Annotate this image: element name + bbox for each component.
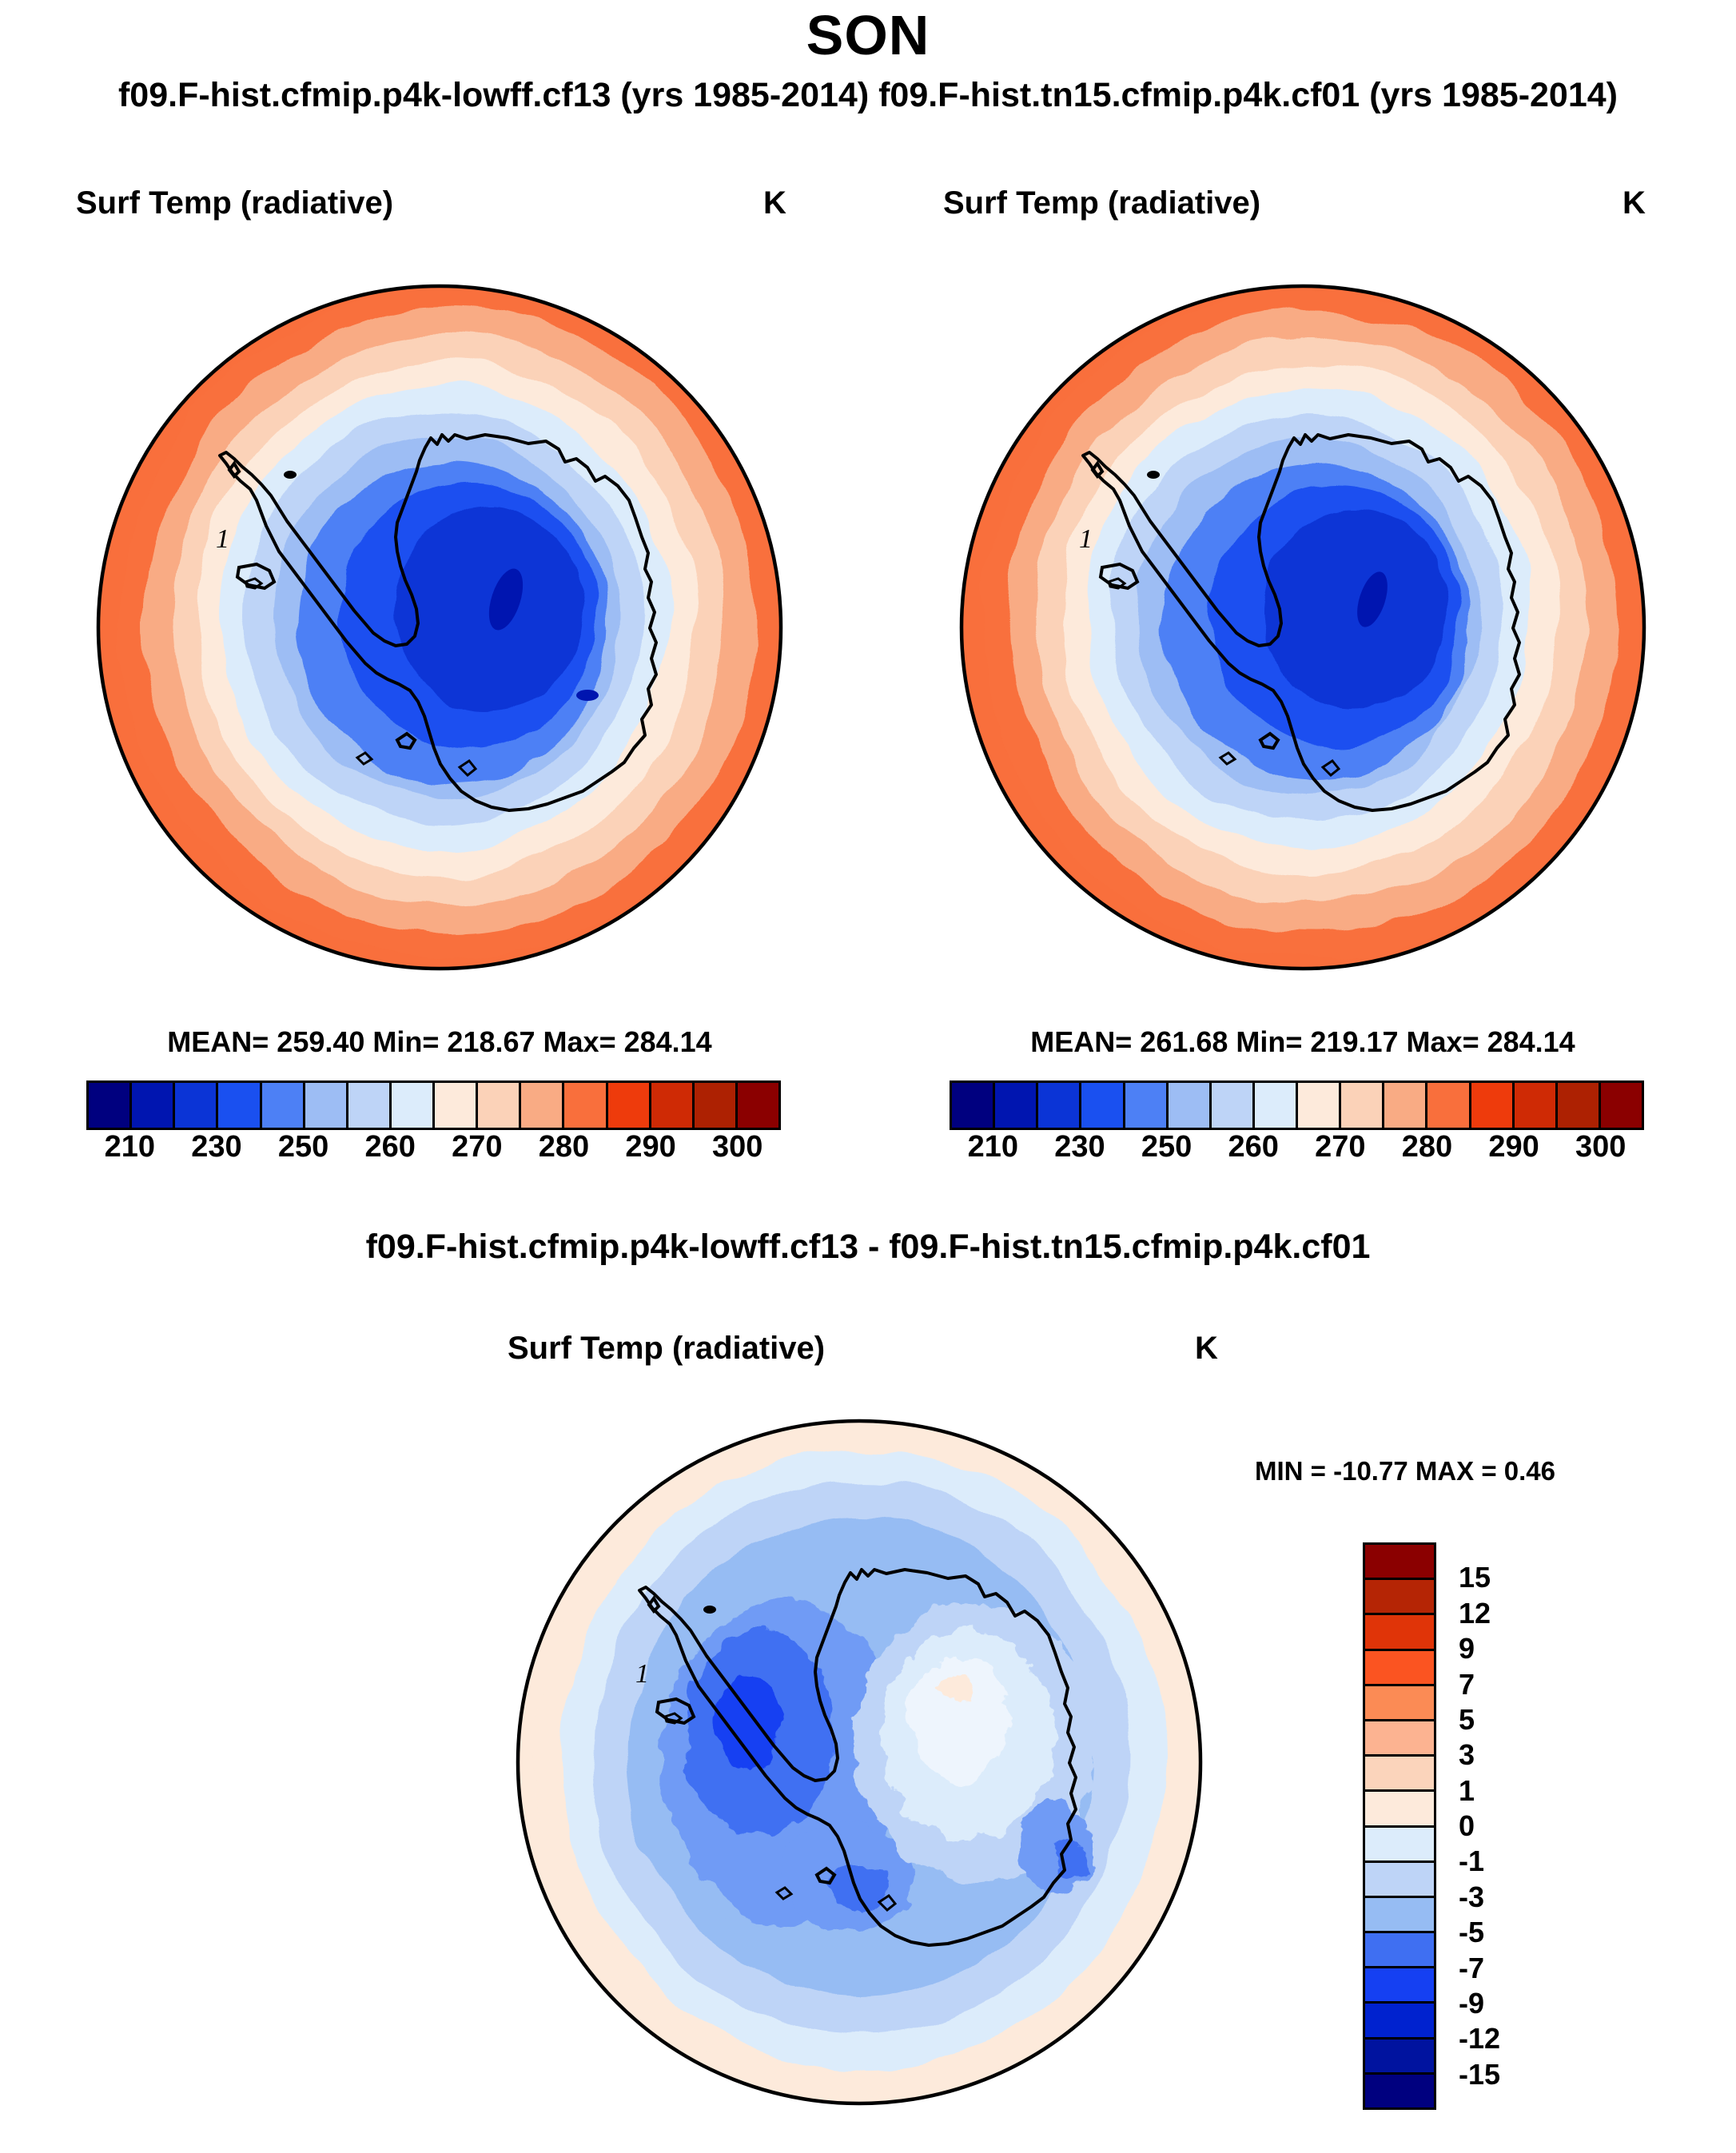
diff-panel-units-label: K [1195, 1331, 1218, 1367]
right-panel-stats: MEAN= 261.68 Min= 219.17 Max= 284.14 [939, 1025, 1666, 1059]
right-colorbar: 210 230 250 260 270 280 290 300 [950, 1080, 1644, 1175]
tick-label: 230 [191, 1130, 241, 1164]
tick-label: 230 [1054, 1130, 1105, 1164]
right-colorbar-strip [950, 1080, 1644, 1130]
case-description-line: f09.F-hist.cfmip.p4k-lowff.cf13 (yrs 198… [0, 76, 1736, 115]
tick-label: 250 [278, 1130, 328, 1164]
tick-label: 7 [1459, 1668, 1475, 1701]
svg-text:1: 1 [1079, 524, 1093, 554]
difference-colorbar-strip [1363, 1542, 1436, 2110]
difference-polar-map: 1 [496, 1399, 1223, 2126]
tick-label: -7 [1459, 1952, 1484, 1985]
tick-label: -5 [1459, 1916, 1484, 1949]
tick-label: 260 [1228, 1130, 1278, 1164]
tick-label: 1 [1459, 1774, 1475, 1808]
tick-label: 280 [1402, 1130, 1452, 1164]
tick-label: 15 [1459, 1561, 1491, 1594]
tick-label: 3 [1459, 1738, 1475, 1772]
season-title: SON [0, 3, 1736, 67]
left-panel-stats: MEAN= 259.40 Min= 218.67 Max= 284.14 [76, 1025, 803, 1059]
tick-label: -12 [1459, 2022, 1500, 2055]
right-panel-units-label: K [1623, 185, 1646, 221]
tick-label: 260 [364, 1130, 415, 1164]
difference-case-line: f09.F-hist.cfmip.p4k-lowff.cf13 - f09.F-… [0, 1228, 1736, 1267]
tick-label: 290 [625, 1130, 675, 1164]
tick-label: -3 [1459, 1880, 1484, 1914]
tick-label: -1 [1459, 1845, 1484, 1878]
tick-label: 9 [1459, 1632, 1475, 1665]
left-colorbar-ticks: 210 230 250 260 270 280 290 300 [86, 1130, 781, 1175]
tick-label: 300 [712, 1130, 762, 1164]
tick-label: -9 [1459, 1987, 1484, 2020]
diff-minmax-annotation: MIN = -10.77 MAX = 0.46 [1255, 1456, 1555, 1486]
tick-label: 12 [1459, 1597, 1491, 1630]
right-polar-map: 1 [939, 264, 1666, 991]
diff-panel-variable-label: Surf Temp (radiative) [508, 1331, 825, 1367]
tick-label: 270 [452, 1130, 502, 1164]
tick-label: 250 [1141, 1130, 1192, 1164]
tick-label: 210 [105, 1130, 155, 1164]
tick-label: 290 [1488, 1130, 1539, 1164]
right-panel-variable-label: Surf Temp (radiative) [943, 185, 1260, 221]
difference-colorbar-ticks: 15 12 9 7 5 3 1 0 -1 -3 -5 -7 -9 -12 -15 [1459, 1542, 1595, 2110]
right-colorbar-ticks: 210 230 250 260 270 280 290 300 [950, 1130, 1644, 1175]
tick-label: 270 [1315, 1130, 1365, 1164]
svg-text:1: 1 [635, 1659, 649, 1689]
tick-label: 300 [1575, 1130, 1626, 1164]
left-panel-variable-label: Surf Temp (radiative) [76, 185, 393, 221]
tick-label: 280 [539, 1130, 589, 1164]
left-colorbar: 210 230 250 260 270 280 290 300 [86, 1080, 781, 1175]
tick-label: -15 [1459, 2058, 1500, 2091]
svg-text:1: 1 [216, 524, 229, 554]
tick-label: 0 [1459, 1809, 1475, 1843]
left-colorbar-strip [86, 1080, 781, 1130]
tick-label: 210 [968, 1130, 1018, 1164]
left-polar-map: 1 [76, 264, 803, 991]
left-panel-units-label: K [763, 185, 786, 221]
tick-label: 5 [1459, 1703, 1475, 1737]
